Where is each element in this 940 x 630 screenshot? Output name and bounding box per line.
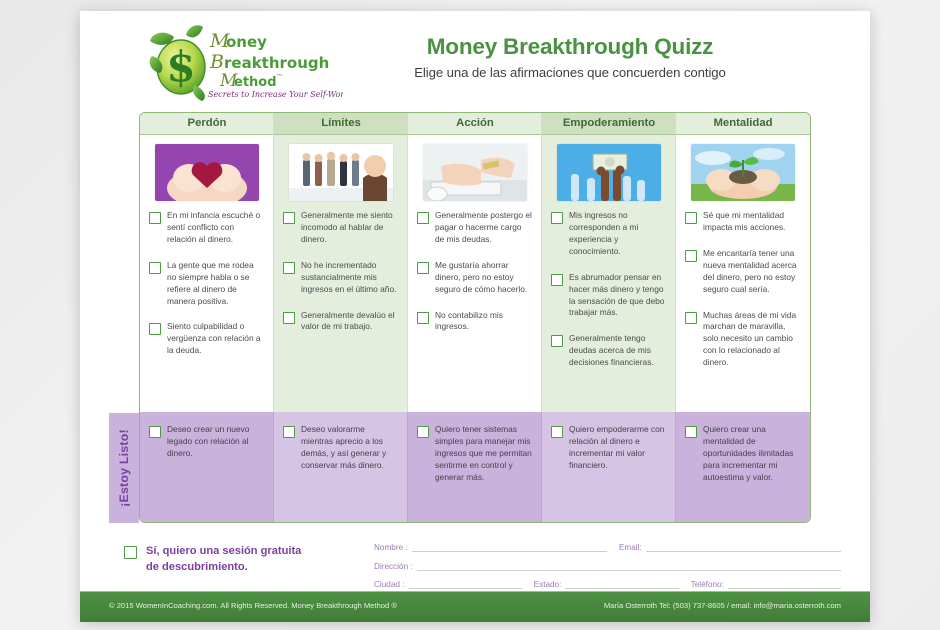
items-limites: Generalmente me siento incomodo al habla… (274, 201, 408, 333)
checkbox[interactable] (283, 212, 295, 224)
page-subtitle: Elige una de las afirmaciones que concue… (360, 65, 780, 80)
checkbox[interactable] (124, 546, 137, 559)
field-row-nombre-email: Nombre : Email: (374, 539, 841, 552)
checkbox[interactable] (149, 426, 161, 438)
field-row-direccion: Dirección : (374, 558, 841, 571)
list-item[interactable]: Generalmente me siento incomodo al habla… (283, 210, 399, 246)
ready-cell-limites: Deseo valorarme mientras aprecio a los d… (274, 412, 408, 522)
checkbox[interactable] (551, 274, 563, 286)
page-title: Money Breakthrough Quizz (360, 35, 780, 60)
input-nombre[interactable] (412, 541, 607, 552)
quiz-sheet: $ M oney B reakthrough M ethod ™ Secrets… (80, 11, 870, 622)
list-item[interactable]: Generalmente tengo deudas acerca de mis … (551, 333, 667, 369)
checkbox[interactable] (685, 250, 697, 262)
ready-label: ¡Estoy Listo! (109, 413, 139, 523)
footer-bar: © 2015 WomenInCoaching.com. All Rights R… (80, 591, 870, 622)
quiz-grid: Perdón En mi infancia es (139, 112, 811, 523)
input-ciudad[interactable] (409, 578, 522, 589)
checkbox[interactable] (551, 212, 563, 224)
image-hands-holding-plant-coins (691, 144, 795, 201)
list-item[interactable]: Generalmente devalúo el valor de mi trab… (283, 310, 399, 334)
free-session-option[interactable]: Sí, quiero una sesión gratuita de descub… (124, 544, 301, 576)
list-item[interactable]: Quiero empoderarme con relación al diner… (551, 424, 667, 472)
checkbox[interactable] (417, 426, 429, 438)
label-telefono: Teléfono: (691, 580, 728, 589)
column-header-empoderamiento: Empoderamiento (542, 113, 676, 135)
items-accion: Generalmente postergo el pagar o hacerme… (408, 201, 542, 333)
field-row-ciudad-estado-telefono: Ciudad : Estado: Teléfono: (374, 576, 841, 589)
checkbox[interactable] (685, 212, 697, 224)
checkbox[interactable] (417, 212, 429, 224)
checkbox[interactable] (685, 312, 697, 324)
ready-cell-empoderamiento: Quiero empoderarme con relación al diner… (542, 412, 676, 522)
ready-label-text: ¡Estoy Listo! (117, 429, 131, 507)
footer-copyright: © 2015 WomenInCoaching.com. All Rights R… (109, 601, 397, 610)
input-direccion[interactable] (417, 560, 841, 571)
checkbox[interactable] (149, 323, 161, 335)
checkbox[interactable] (149, 262, 161, 274)
list-item[interactable]: Es abrumador pensar en hacer más dinero … (551, 272, 667, 320)
list-item[interactable]: Quiero crear una mentalidad de oportunid… (685, 424, 801, 484)
label-nombre: Nombre : (374, 543, 412, 552)
list-item[interactable]: Siento culpabilidad o vergüenza con rela… (149, 321, 265, 357)
free-session-label: Sí, quiero una sesión gratuita de descub… (146, 544, 301, 576)
list-item[interactable]: Deseo valorarme mientras aprecio a los d… (283, 424, 399, 472)
checkbox[interactable] (685, 426, 697, 438)
image-hands-raised-dollar-bill (557, 144, 661, 201)
svg-text:B: B (209, 51, 224, 73)
title-block: Money Breakthrough Quizz Elige una de la… (360, 35, 780, 80)
list-item[interactable]: Muchas áreas de mi vida marchan de marav… (685, 310, 801, 370)
list-item[interactable]: La gente que me rodea no siempre habla o… (149, 260, 265, 308)
ready-cell-accion: Quiero tener sistemas simples para manej… (408, 412, 542, 522)
svg-text:$: $ (166, 42, 195, 91)
page-background: $ M oney B reakthrough M ethod ™ Secrets… (0, 0, 940, 630)
checkbox[interactable] (283, 312, 295, 324)
input-email[interactable] (646, 541, 841, 552)
image-business-people-group (289, 144, 393, 201)
signup-form: Sí, quiero una sesión gratuita de descub… (109, 533, 841, 591)
items-perdon: En mi infancia escuché o sentí conflicto… (140, 201, 274, 357)
items-mentalidad: Sé que mi mentalidad impacta mis accione… (676, 201, 810, 369)
input-estado[interactable] (565, 578, 678, 589)
checkbox[interactable] (417, 262, 429, 274)
list-item[interactable]: No he incrementado sustancialmente mis i… (283, 260, 399, 296)
checkbox[interactable] (551, 426, 563, 438)
list-item[interactable]: Quiero tener sistemas simples para manej… (417, 424, 533, 484)
label-ciudad: Ciudad : (374, 580, 409, 589)
ready-cell-perdon: Deseo crear un nuevo legado con relación… (140, 412, 274, 522)
list-item[interactable]: Me encantaría tener una nueva mentalidad… (685, 248, 801, 296)
checkbox[interactable] (283, 262, 295, 274)
checkbox[interactable] (551, 335, 563, 347)
brand-logo: $ M oney B reakthrough M ethod ™ Secrets… (148, 23, 343, 101)
contact-fields: Nombre : Email: Dirección : Ciudad : Est… (374, 539, 841, 595)
label-estado: Estado: (534, 580, 566, 589)
label-email: Email: (619, 543, 646, 552)
svg-text:ethod: ethod (234, 75, 277, 90)
column-header-perdon: Perdón (140, 113, 274, 135)
checkbox[interactable] (149, 212, 161, 224)
checkbox[interactable] (283, 426, 295, 438)
svg-text:oney: oney (226, 33, 267, 51)
items-empoderamiento: Mis ingresos no corresponden a mi experi… (542, 201, 676, 369)
svg-text:reakthrough: reakthrough (224, 54, 329, 72)
list-item[interactable]: Sé que mi mentalidad impacta mis accione… (685, 210, 801, 234)
image-hands-typing-keyboard (423, 144, 527, 201)
list-item[interactable]: Deseo crear un nuevo legado con relación… (149, 424, 265, 460)
header: $ M oney B reakthrough M ethod ™ Secrets… (80, 11, 870, 108)
list-item[interactable]: En mi infancia escuché o sentí conflicto… (149, 210, 265, 246)
svg-text:™: ™ (276, 73, 283, 81)
list-item[interactable]: Mis ingresos no corresponden a mi experi… (551, 210, 667, 258)
list-item[interactable]: Me gustaría ahorrar dinero, pero no esto… (417, 260, 533, 296)
column-header-limites: Límites (274, 113, 408, 135)
column-header-mentalidad: Mentalidad (676, 113, 810, 135)
label-direccion: Dirección : (374, 562, 417, 571)
footer-contact: María Osterroth Tel: (503) 737-8605 / em… (604, 601, 841, 610)
column-header-accion: Acción (408, 113, 542, 135)
image-hands-holding-red-heart (155, 144, 259, 201)
ready-row: Deseo crear un nuevo legado con relación… (140, 412, 810, 522)
input-telefono[interactable] (728, 578, 841, 589)
ready-cell-mentalidad: Quiero crear una mentalidad de oportunid… (676, 412, 810, 522)
checkbox[interactable] (417, 312, 429, 324)
svg-text:Secrets to Increase Your Self-: Secrets to Increase Your Self-Worth & Ne… (208, 90, 343, 99)
list-item[interactable]: Generalmente postergo el pagar o hacerme… (417, 210, 533, 246)
list-item[interactable]: No contabilizo mis ingresos. (417, 310, 533, 334)
